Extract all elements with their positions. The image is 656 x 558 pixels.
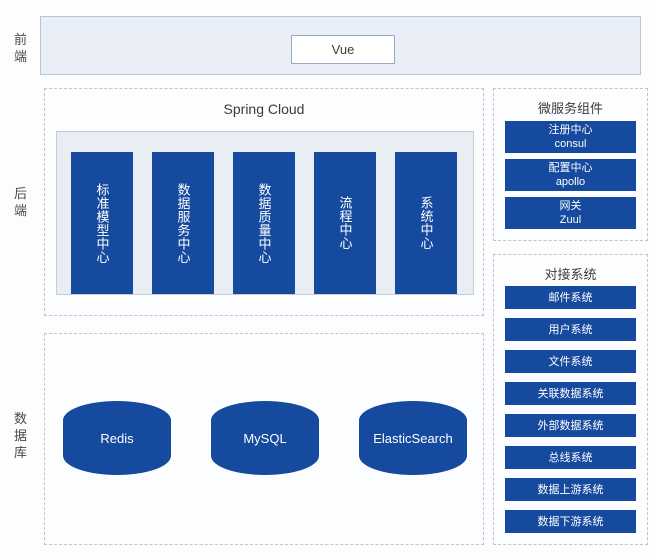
row-label-char: 数 [4,410,38,427]
database-band: RedisMySQLElasticSearch [44,333,484,545]
spring-cloud-title: Spring Cloud [45,101,483,117]
integration-systems-panel: 对接系统 邮件系统用户系统文件系统关联数据系统外部数据系统总线系统数据上游系统数… [493,254,648,545]
microservice-component-label: 网关 [560,199,582,213]
microservice-component-item[interactable]: 网关Zuul [505,197,636,229]
row-label-database: 数据库 [4,410,38,461]
service-center-box[interactable]: 系统中心 [395,152,457,294]
service-center-box[interactable]: 标准模型中心 [71,152,133,294]
row-label-char: 库 [4,444,38,461]
spring-cloud-band: Spring Cloud 标准模型中心数据服务中心数据质量中心流程中心系统中心 [44,88,484,316]
row-label-frontend: 前端 [4,31,38,65]
row-label-char: 端 [4,202,38,219]
microservice-component-tech: Zuul [560,213,581,227]
row-label-backend: 后端 [4,185,38,219]
frontend-band: Vue [40,16,641,75]
row-label-char: 前 [4,31,38,48]
database-cylinder[interactable]: ElasticSearch [359,401,467,475]
vue-node[interactable]: Vue [291,35,395,64]
service-center-box[interactable]: 数据服务中心 [152,152,214,294]
microservice-component-tech: consul [555,137,587,151]
microservice-component-label: 注册中心 [549,123,593,137]
integration-system-item[interactable]: 数据上游系统 [505,478,636,501]
microservice-component-tech: apollo [556,175,585,189]
integration-system-item[interactable]: 总线系统 [505,446,636,469]
integration-system-item[interactable]: 用户系统 [505,318,636,341]
integration-system-item[interactable]: 外部数据系统 [505,414,636,437]
architecture-diagram: 前端 后端 数据库 Vue Spring Cloud 标准模型中心数据服务中心数… [0,0,656,558]
microservice-components-title: 微服务组件 [494,98,647,117]
microservice-components-panel: 微服务组件 注册中心consul配置中心apollo网关Zuul [493,88,648,241]
microservice-component-label: 配置中心 [549,161,593,175]
integration-system-item[interactable]: 数据下游系统 [505,510,636,533]
integration-system-item[interactable]: 文件系统 [505,350,636,373]
database-cylinder[interactable]: MySQL [211,401,319,475]
microservice-component-item[interactable]: 配置中心apollo [505,159,636,191]
service-center-box[interactable]: 流程中心 [314,152,376,294]
integration-systems-title: 对接系统 [494,264,647,283]
service-center-box[interactable]: 数据质量中心 [233,152,295,294]
row-label-char: 据 [4,427,38,444]
microservice-component-item[interactable]: 注册中心consul [505,121,636,153]
row-label-char: 端 [4,48,38,65]
integration-system-item[interactable]: 邮件系统 [505,286,636,309]
integration-system-item[interactable]: 关联数据系统 [505,382,636,405]
row-label-char: 后 [4,185,38,202]
service-center-panel: 标准模型中心数据服务中心数据质量中心流程中心系统中心 [56,131,474,295]
database-cylinder[interactable]: Redis [63,401,171,475]
